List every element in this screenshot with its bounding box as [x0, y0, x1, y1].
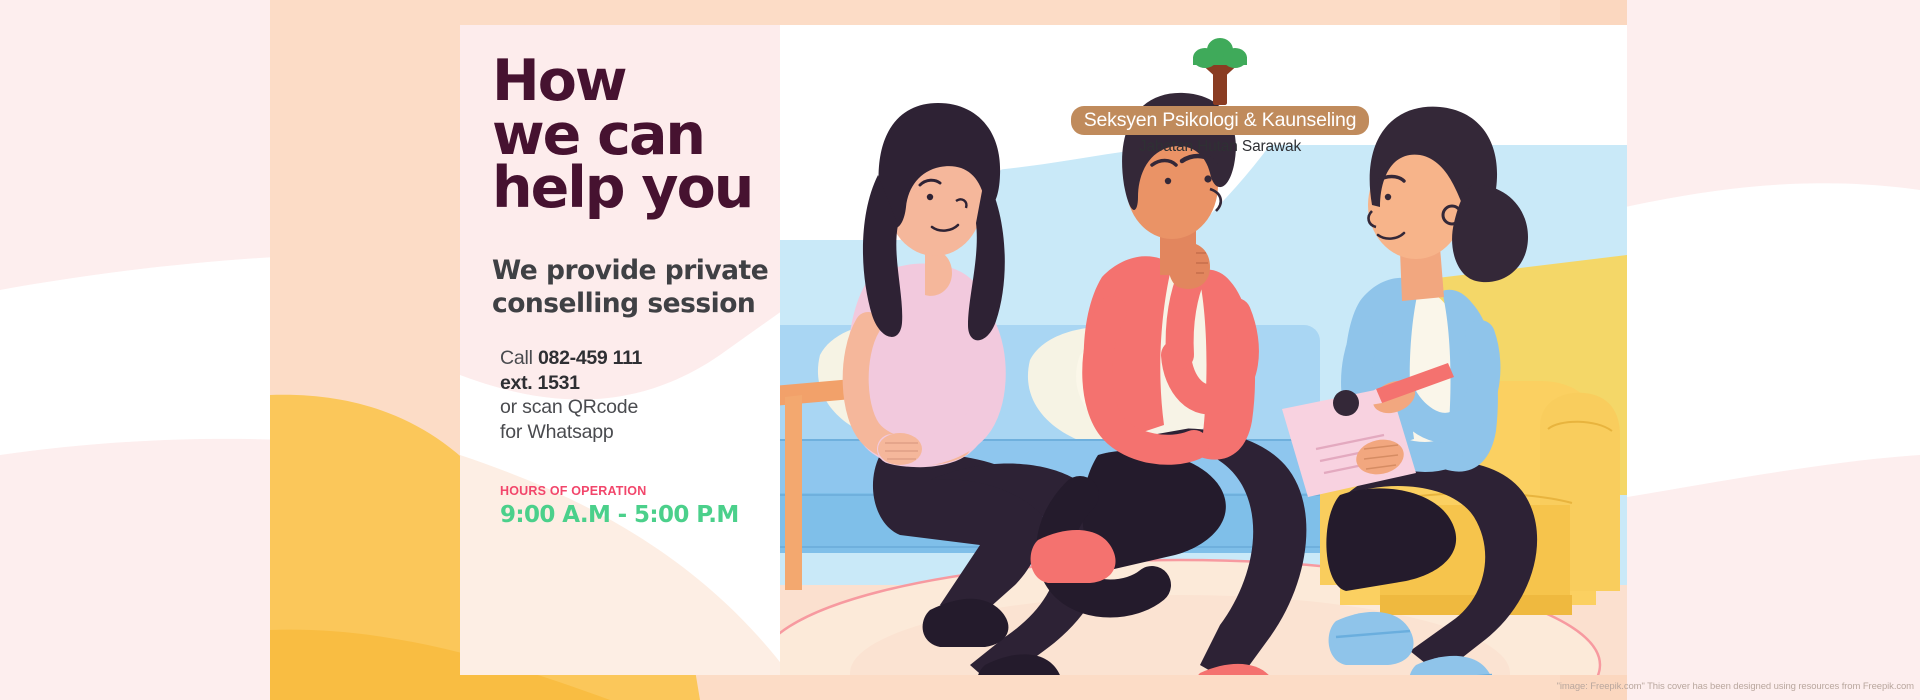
phone-number: 082-459 111 — [538, 347, 642, 369]
hours-of-operation-value: 9:00 A.M - 5:00 P.M — [500, 502, 842, 528]
contact-block: Call 082-459 111 ext. 1531 or scan QRcod… — [500, 346, 842, 444]
logo-department: Jabatan Hutan Sarawak — [1070, 138, 1370, 156]
for-whatsapp-hint: for Whatsapp — [500, 421, 614, 443]
tree-hands-icon — [1189, 37, 1251, 105]
page-title: Howwe canhelp you — [492, 55, 842, 216]
subheading: We provide private conselling session — [492, 254, 842, 320]
organization-logo: Seksyen Psikologi & Kaunseling Jabatan H… — [1070, 37, 1370, 156]
left-text-column: Howwe canhelp you We provide private con… — [492, 55, 842, 528]
image-credit: "image: Freepik.com" This cover has been… — [1557, 681, 1914, 692]
poster-canvas: Howwe canhelp you We provide private con… — [0, 0, 1920, 700]
content-card: Howwe canhelp you We provide private con… — [460, 25, 1627, 675]
phone-extension: ext. 1531 — [500, 372, 580, 394]
call-prefix-label: Call — [500, 347, 538, 369]
scan-qrcode-hint: or scan QRcode — [500, 396, 638, 418]
headline-line-3: help you — [492, 155, 752, 221]
hours-of-operation-label: HOURS OF OPERATION — [500, 484, 842, 498]
banner-card: Howwe canhelp you We provide private con… — [270, 0, 1627, 700]
logo-name-pill: Seksyen Psikologi & Kaunseling — [1071, 106, 1370, 135]
